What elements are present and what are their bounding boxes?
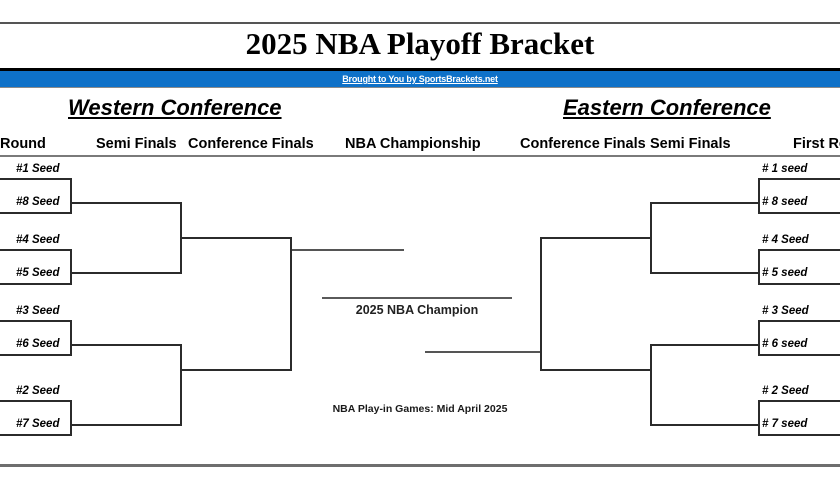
west-semi-lower-bottom-connector: [72, 424, 182, 426]
east-semi-lower-out-connector: [540, 369, 652, 371]
western-conference-heading: Western Conference: [68, 95, 282, 121]
west-seed-5-label: #5 Seed: [16, 267, 59, 279]
eastern-conference-heading: Eastern Conference: [563, 95, 771, 121]
banner-underline-divider: [0, 87, 840, 88]
west-championship-slot-line: [292, 249, 404, 251]
play-in-games-note: NBA Play-in Games: Mid April 2025: [300, 403, 540, 415]
west-seed-6-label: #6 Seed: [16, 338, 59, 350]
east-seed-3-label: # 3 Seed: [762, 305, 809, 317]
west-semi-upper-bottom-connector: [72, 272, 182, 274]
west-semi-lower-vertical: [180, 344, 182, 426]
east-seed-8-label: # 8 seed: [762, 196, 807, 208]
east-semi-upper-top-connector: [650, 202, 760, 204]
bracket-page: 2025 NBA Playoff Bracket Brought to You …: [0, 0, 840, 480]
round-label-nba-championship: NBA Championship: [345, 136, 481, 152]
top-divider: [0, 22, 840, 24]
east-seed-5-label: # 5 seed: [762, 267, 807, 279]
east-championship-slot-line: [425, 351, 540, 353]
east-semi-lower-top-connector: [650, 344, 760, 346]
west-seed-1-label: #1 Seed: [16, 163, 59, 175]
west-seed-2-label: #2 Seed: [16, 385, 59, 397]
bottom-divider: [0, 464, 840, 467]
round-label-east-semi-finals: Semi Finals: [650, 136, 731, 152]
east-semi-upper-bottom-connector: [650, 272, 760, 274]
west-seed-8-label: #8 Seed: [16, 196, 59, 208]
west-conference-final-vertical: [290, 237, 292, 371]
east-conference-final-vertical: [540, 237, 542, 371]
west-seed-3-label: #3 Seed: [16, 305, 59, 317]
champion-label: 2025 NBA Champion: [322, 303, 512, 317]
east-seed-6-label: # 6 seed: [762, 338, 807, 350]
east-seed-4-label: # 4 Seed: [762, 234, 809, 246]
west-semi-lower-out-connector: [182, 369, 292, 371]
west-seed-7-label: #7 Seed: [16, 418, 59, 430]
west-seed-4-label: #4 Seed: [16, 234, 59, 246]
round-label-west-conference-finals: Conference Finals: [188, 136, 314, 152]
sponsor-link[interactable]: Brought to You by SportsBrackets.net: [342, 74, 498, 84]
sponsor-banner: Brought to You by SportsBrackets.net: [0, 71, 840, 87]
east-seed-1-label: # 1 seed: [762, 163, 807, 175]
champion-slot-line: [322, 297, 512, 299]
east-seed-2-label: # 2 Seed: [762, 385, 809, 397]
rounds-underline-divider: [0, 155, 840, 157]
page-title: 2025 NBA Playoff Bracket: [0, 26, 840, 62]
east-semi-lower-bottom-connector: [650, 424, 760, 426]
east-semi-lower-vertical: [650, 344, 652, 426]
west-semi-upper-out-connector: [182, 237, 292, 239]
west-semi-lower-top-connector: [72, 344, 182, 346]
round-label-east-conference-finals: Conference Finals: [520, 136, 646, 152]
east-seed-7-label: # 7 seed: [762, 418, 807, 430]
round-label-west-first-round: Round: [0, 136, 46, 152]
east-semi-upper-out-connector: [540, 237, 652, 239]
round-label-west-semi-finals: Semi Finals: [96, 136, 177, 152]
round-label-east-first-round: First Ro: [793, 136, 840, 152]
west-semi-upper-top-connector: [72, 202, 182, 204]
